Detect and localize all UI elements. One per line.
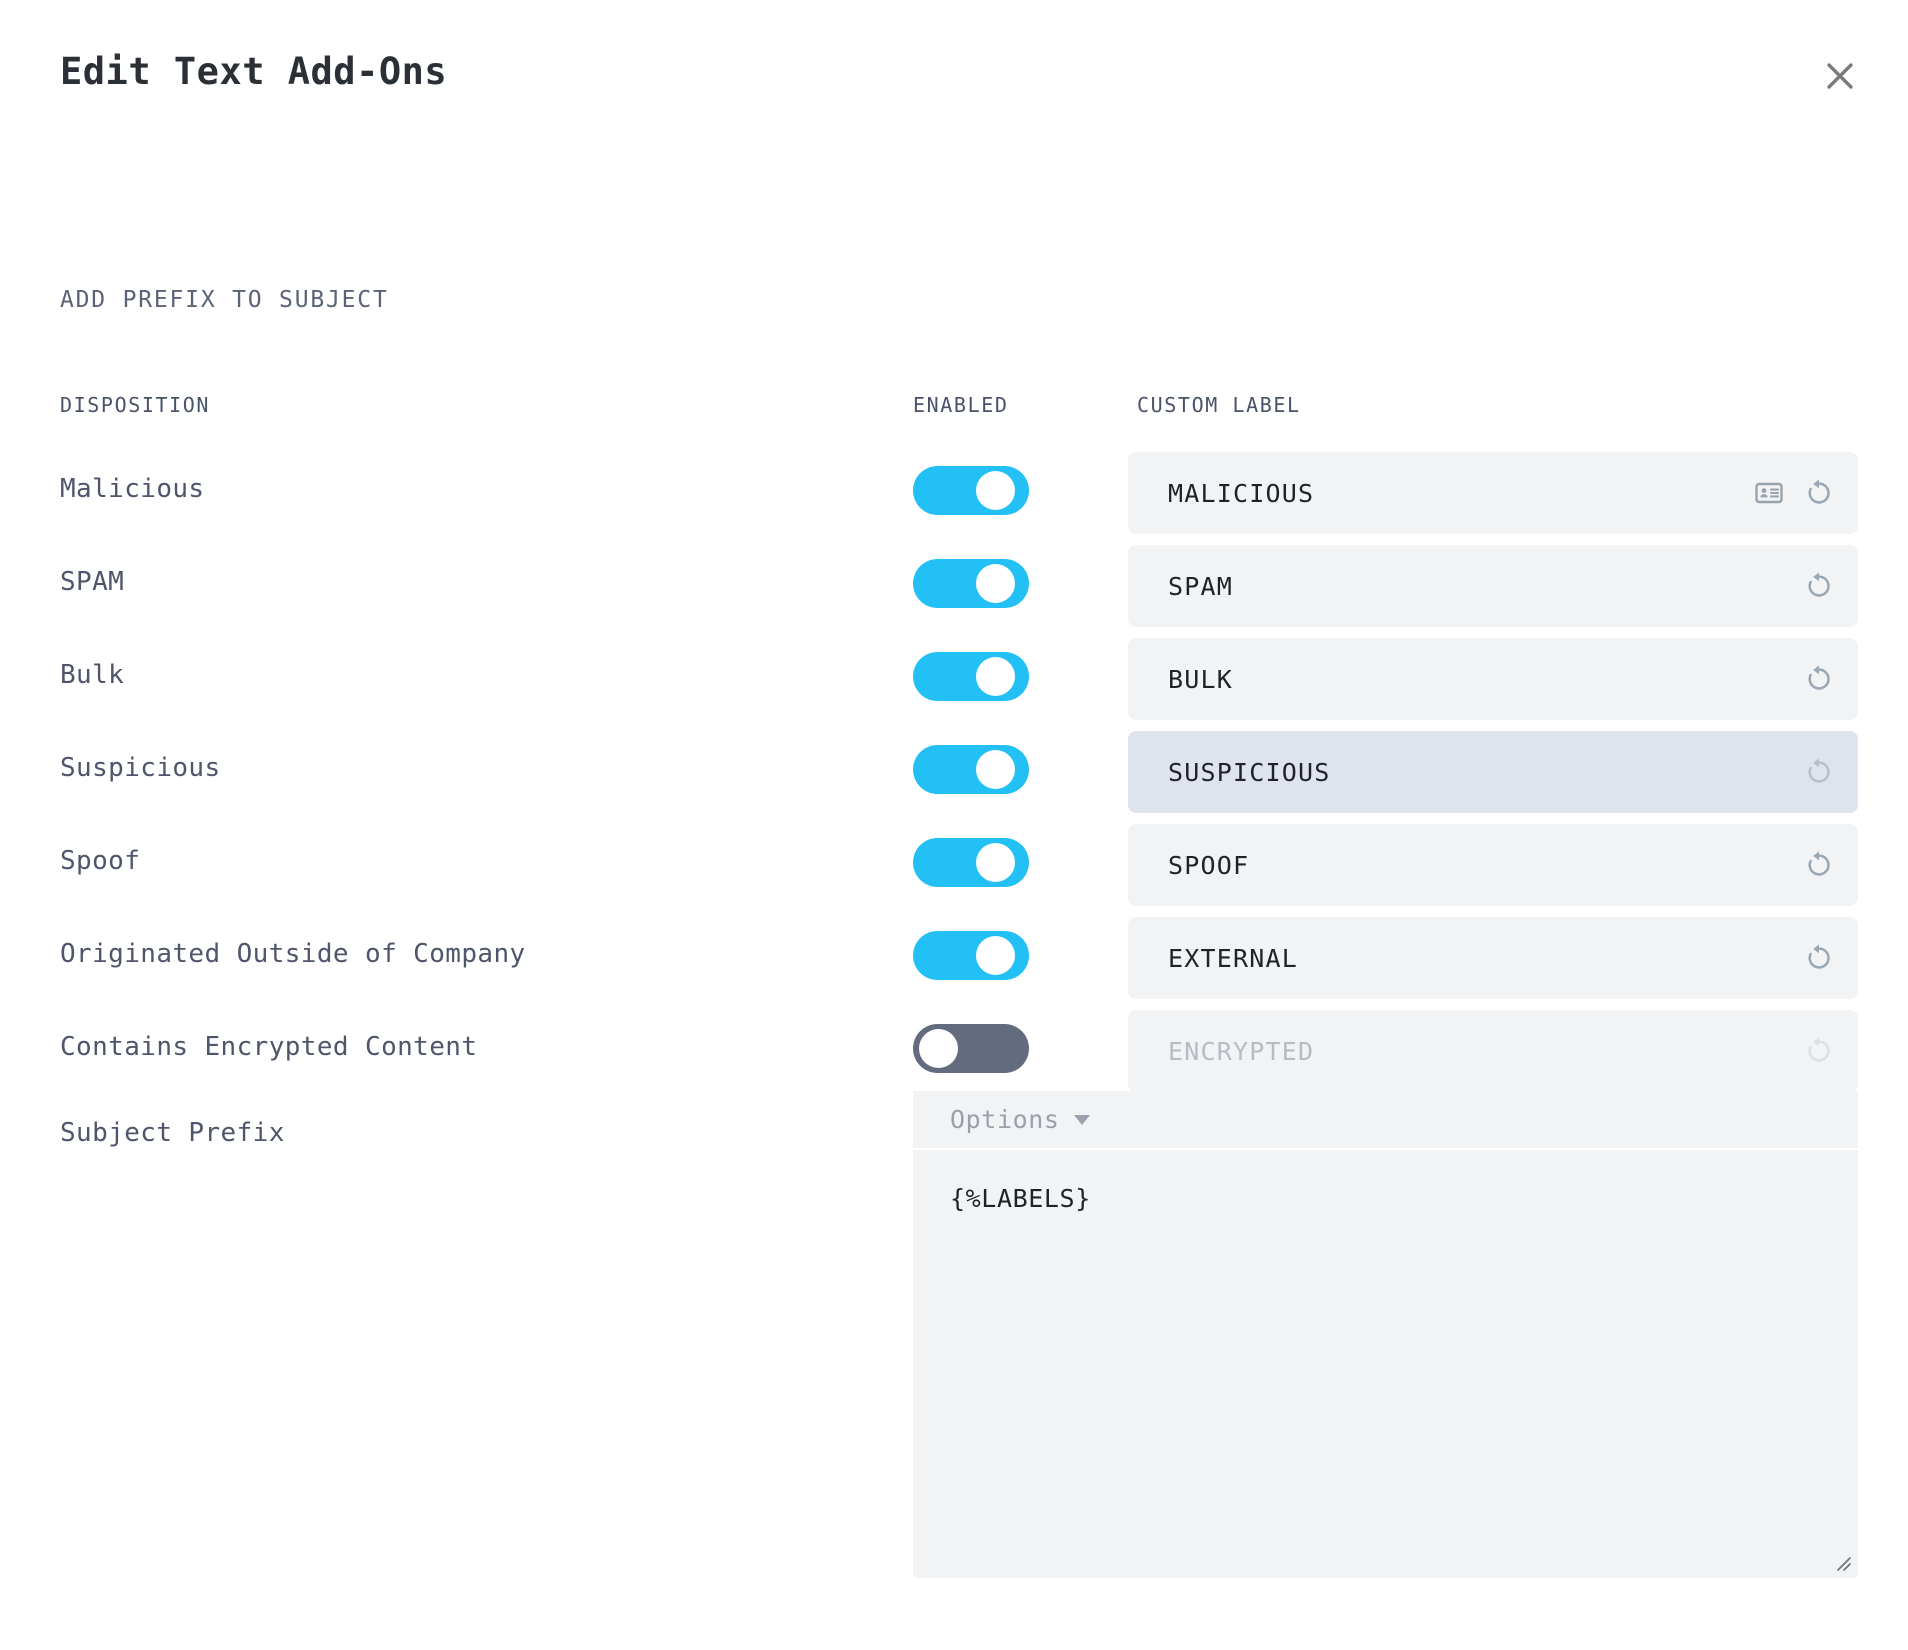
resize-handle[interactable] [1830,1550,1852,1572]
custom-label-input-encrypted: ENCRYPTED [1128,1010,1858,1092]
toggle-bulk[interactable] [913,652,1029,701]
row-label-spoof: Spoof [60,846,140,876]
toggle-knob [976,657,1015,696]
field-icon-group [1802,545,1836,627]
subject-prefix-value: {%LABELS} [950,1184,1091,1213]
options-dropdown-label: Options [950,1105,1060,1134]
custom-label-input-suspicious[interactable]: SUSPICIOUS [1128,731,1858,813]
toggle-suspicious[interactable] [913,745,1029,794]
toggle-knob [976,564,1015,603]
custom-label-value: SPAM [1168,572,1233,601]
reset-icon[interactable] [1802,755,1836,789]
toggle-knob [976,471,1015,510]
column-header-enabled: ENABLED [913,393,1009,417]
table-row: Originated Outside of Company EXTERNAL [0,917,1908,1010]
table-row: Bulk BULK [0,638,1908,731]
edit-text-addons-dialog: Edit Text Add-Ons ADD PREFIX TO SUBJECT … [0,0,1908,1650]
disposition-rows: Malicious MALICIOUS [0,452,1908,1103]
toggle-knob [976,936,1015,975]
reset-icon [1802,1034,1836,1068]
row-label-spam: SPAM [60,567,124,597]
toggle-contains-encrypted[interactable] [913,1024,1029,1073]
reset-icon[interactable] [1802,569,1836,603]
field-icon-group [1802,824,1836,906]
toggle-malicious[interactable] [913,466,1029,515]
toggle-knob [976,843,1015,882]
reset-icon[interactable] [1802,941,1836,975]
table-row: Contains Encrypted Content ENCRYPTED [0,1010,1908,1103]
custom-label-input-bulk[interactable]: BULK [1128,638,1858,720]
custom-label-input-spam[interactable]: SPAM [1128,545,1858,627]
toggle-spam[interactable] [913,559,1029,608]
close-button[interactable] [1818,54,1862,98]
row-label-bulk: Bulk [60,660,124,690]
subject-prefix-textarea[interactable]: {%LABELS} [913,1150,1858,1578]
contact-card-icon[interactable] [1752,476,1786,510]
field-icon-group [1802,917,1836,999]
close-icon [1823,59,1857,93]
custom-label-input-malicious[interactable]: MALICIOUS [1128,452,1858,534]
row-label-originated-outside: Originated Outside of Company [60,939,526,969]
toggle-originated-outside[interactable] [913,931,1029,980]
field-icon-group [1752,452,1836,534]
page-title: Edit Text Add-Ons [60,50,447,93]
field-icon-group [1802,1010,1836,1092]
column-header-custom-label: CUSTOM LABEL [1137,393,1301,417]
row-label-malicious: Malicious [60,474,204,504]
custom-label-value: ENCRYPTED [1168,1037,1314,1066]
subject-prefix-label: Subject Prefix [60,1118,285,1148]
table-row: Spoof SPOOF [0,824,1908,917]
table-row: Malicious MALICIOUS [0,452,1908,545]
options-dropdown[interactable]: Options [913,1091,1858,1148]
toggle-knob [976,750,1015,789]
custom-label-value: SUSPICIOUS [1168,758,1331,787]
field-icon-group [1802,638,1836,720]
row-label-contains-encrypted: Contains Encrypted Content [60,1032,477,1062]
custom-label-value: SPOOF [1168,851,1249,880]
reset-icon[interactable] [1802,662,1836,696]
reset-icon[interactable] [1802,476,1836,510]
toggle-knob [919,1029,958,1068]
column-header-disposition: DISPOSITION [60,393,210,417]
chevron-down-icon [1074,1115,1090,1125]
custom-label-input-spoof[interactable]: SPOOF [1128,824,1858,906]
custom-label-input-external[interactable]: EXTERNAL [1128,917,1858,999]
table-row: Suspicious SUSPICIOUS [0,731,1908,824]
row-label-suspicious: Suspicious [60,753,221,783]
custom-label-value: BULK [1168,665,1233,694]
custom-label-value: EXTERNAL [1168,944,1298,973]
section-heading: ADD PREFIX TO SUBJECT [60,287,389,313]
reset-icon[interactable] [1802,848,1836,882]
field-icon-group [1802,731,1836,813]
table-row: SPAM SPAM [0,545,1908,638]
custom-label-value: MALICIOUS [1168,479,1314,508]
toggle-spoof[interactable] [913,838,1029,887]
